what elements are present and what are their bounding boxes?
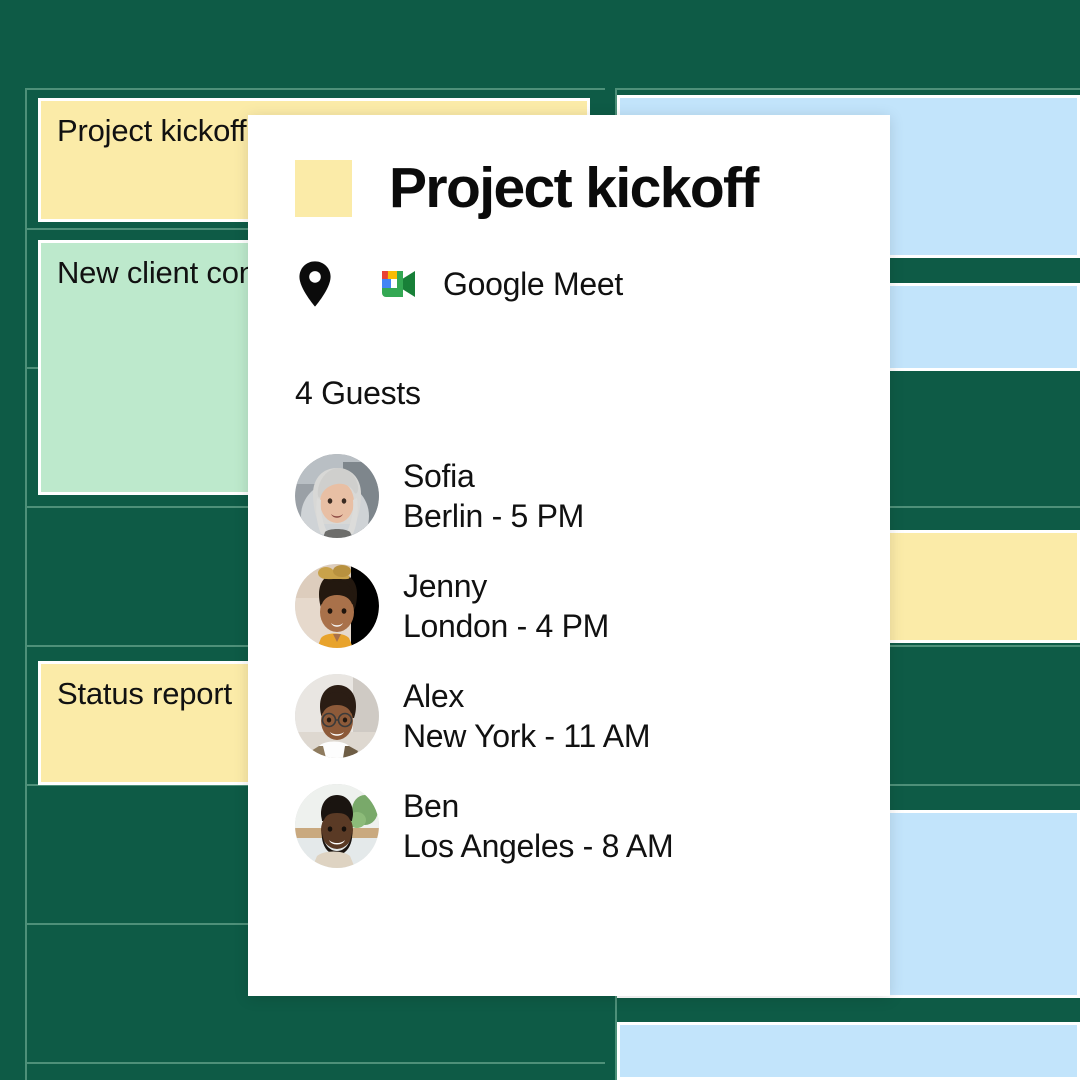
guest-info: Sofia Berlin - 5 PM [403, 456, 584, 537]
guest-list-item[interactable]: Ben Los Angeles - 8 AM [295, 784, 890, 868]
guest-info: Ben Los Angeles - 8 AM [403, 786, 673, 867]
guest-name: Ben [403, 786, 673, 826]
guest-name: Sofia [403, 456, 584, 496]
guest-location-time: London - 4 PM [403, 606, 609, 646]
guest-list-item[interactable]: Jenny London - 4 PM [295, 564, 890, 648]
guest-location-time: Los Angeles - 8 AM [403, 826, 673, 866]
event-title: Project kickoff [389, 160, 758, 217]
calendar-screen: Project kickoff New client consultation … [0, 0, 1080, 1080]
event-location-label: Google Meet [443, 266, 623, 303]
event-detail-card: Project kickoff [248, 115, 890, 996]
avatar-sofia [295, 454, 379, 538]
guest-info: Jenny London - 4 PM [403, 566, 609, 647]
avatar-ben [295, 784, 379, 868]
guests-heading: 4 Guests [295, 375, 890, 412]
guest-info: Alex New York - 11 AM [403, 676, 650, 757]
guest-list-item[interactable]: Alex New York - 11 AM [295, 674, 890, 758]
card-header: Project kickoff [295, 160, 890, 217]
guest-name: Jenny [403, 566, 609, 606]
event-location-row: Google Meet [295, 261, 890, 307]
grid-line [27, 1062, 605, 1064]
calendar-event-block[interactable] [617, 1022, 1080, 1080]
event-color-chip [295, 160, 352, 217]
avatar-jenny [295, 564, 379, 648]
google-meet-icon [379, 266, 421, 302]
guest-list-item[interactable]: Sofia Berlin - 5 PM [295, 454, 890, 538]
guest-list: Sofia Berlin - 5 PM [295, 454, 890, 868]
guest-location-time: Berlin - 5 PM [403, 496, 584, 536]
guest-name: Alex [403, 676, 650, 716]
avatar-alex [295, 674, 379, 758]
guest-location-time: New York - 11 AM [403, 716, 650, 756]
location-pin-icon [295, 261, 335, 307]
